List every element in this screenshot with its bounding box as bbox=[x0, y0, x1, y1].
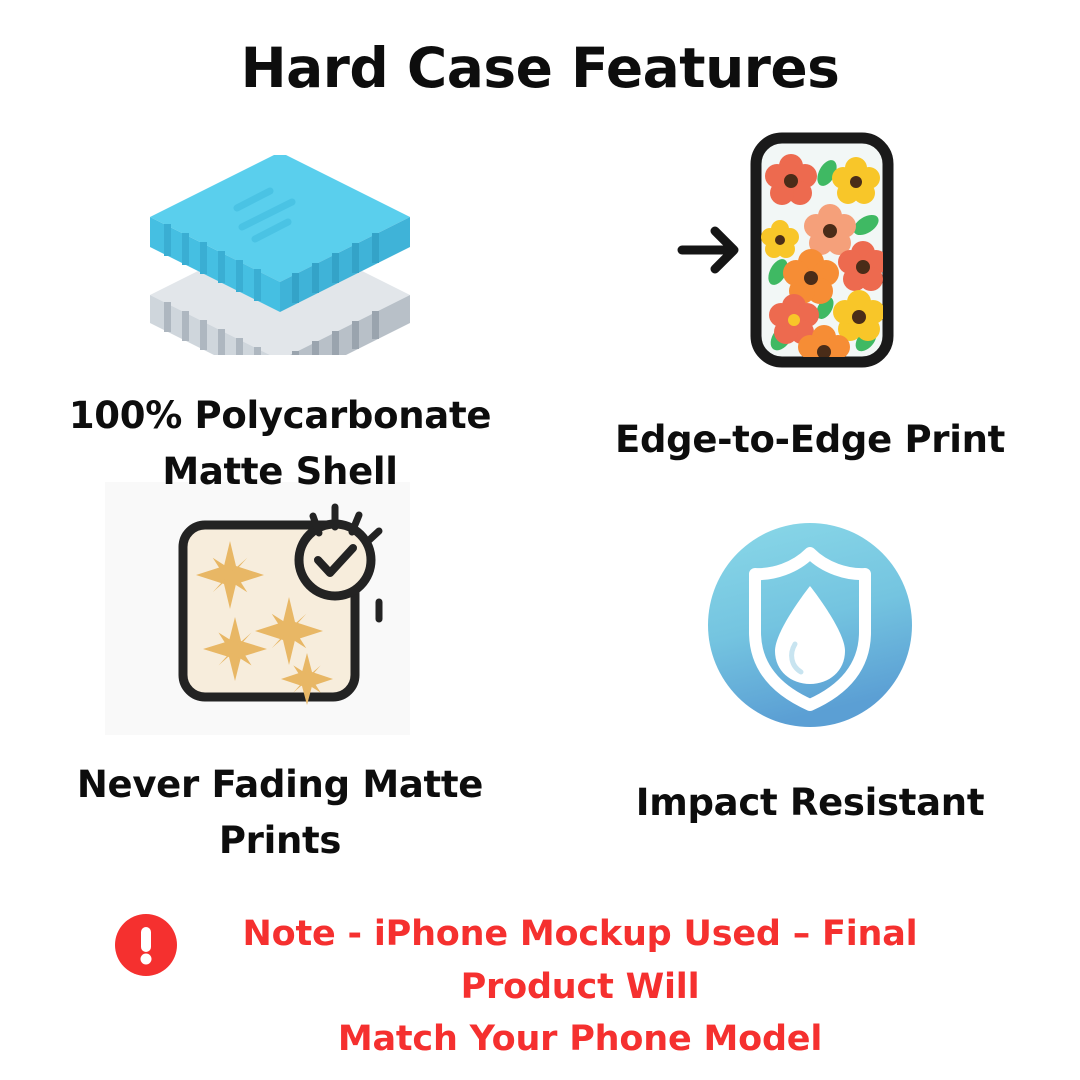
phone-case-floral-icon-wrap bbox=[560, 130, 1060, 370]
note-banner: Note - iPhone Mockup Used – Final Produc… bbox=[0, 908, 1080, 1066]
feature-caption: Never Fading Matte Prints bbox=[20, 757, 540, 869]
sparkle-square-check-icon bbox=[155, 483, 405, 733]
sparkle-square-check-icon-wrap bbox=[20, 470, 540, 745]
page-title: Hard Case Features bbox=[0, 36, 1080, 100]
note-text: Note - iPhone Mockup Used – Final Produc… bbox=[195, 908, 965, 1066]
layers-icon-wrap bbox=[20, 150, 540, 360]
caption-line-1: 100% Polycarbonate bbox=[20, 388, 540, 444]
note-line-1: Note - iPhone Mockup Used – Final Produc… bbox=[195, 908, 965, 1013]
feature-caption: Edge-to-Edge Print bbox=[560, 412, 1060, 468]
caption-line-1: Edge-to-Edge Print bbox=[560, 412, 1060, 468]
caption-line-1: Impact Resistant bbox=[560, 775, 1060, 831]
phone-case-floral-icon bbox=[670, 130, 950, 370]
feature-never-fading-prints: Never Fading Matte Prints bbox=[20, 470, 540, 869]
alert-exclamation-icon bbox=[115, 914, 177, 980]
shield-droplet-icon bbox=[705, 520, 915, 730]
shield-droplet-icon-wrap bbox=[560, 500, 1060, 750]
caption-line-1: Never Fading Matte bbox=[20, 757, 540, 813]
feature-polycarbonate-shell: 100% Polycarbonate Matte Shell bbox=[20, 150, 540, 500]
note-line-2: Match Your Phone Model bbox=[195, 1013, 965, 1066]
feature-edge-to-edge-print: Edge-to-Edge Print bbox=[560, 130, 1060, 468]
layers-icon bbox=[130, 155, 430, 355]
feature-caption: Impact Resistant bbox=[560, 775, 1060, 831]
infographic-page: Hard Case Features bbox=[0, 0, 1080, 1080]
arrow-right-icon bbox=[682, 231, 734, 269]
feature-impact-resistant: Impact Resistant bbox=[560, 500, 1060, 831]
caption-line-2: Prints bbox=[20, 813, 540, 869]
